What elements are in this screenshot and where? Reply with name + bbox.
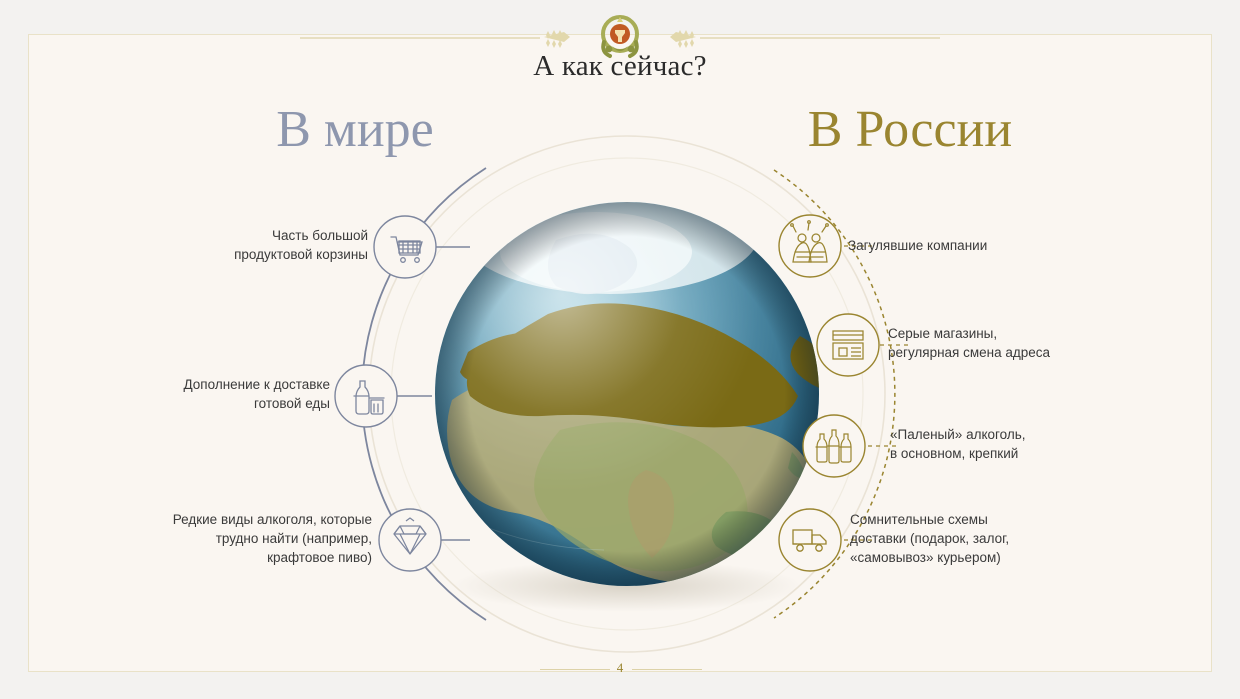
- page-number: 4: [600, 660, 640, 676]
- column-heading-world: В мире: [200, 100, 510, 159]
- crest-rule-left: [300, 37, 540, 39]
- bottle-and-food-icon[interactable]: [335, 365, 397, 427]
- wheat-ear-right-icon: [666, 26, 702, 48]
- diamond-icon[interactable]: [379, 509, 441, 571]
- header-crest-band: [0, 0, 1240, 60]
- delivery-truck-icon[interactable]: [779, 509, 841, 571]
- label-russia-3: «Паленый» алкоголь, в основном, крепкий: [890, 425, 1140, 463]
- label-russia-2: Серые магазины, регулярная смена адреса: [888, 324, 1148, 362]
- storefront-icon[interactable]: [817, 314, 879, 376]
- slide-footer: 4: [0, 655, 1240, 685]
- footer-rule-right: [632, 669, 702, 670]
- party-people-icon[interactable]: [779, 215, 841, 277]
- crest-rule-right: [700, 37, 940, 39]
- label-world-1: Часть большой продуктовой корзины: [168, 226, 368, 264]
- label-world-2: Дополнение к доставке готовой еды: [118, 375, 330, 413]
- slide: А как сейчас? В мире В России Часть боль…: [0, 0, 1240, 699]
- column-heading-russia: В России: [740, 100, 1080, 159]
- label-world-3: Редкие виды алкоголя, которые трудно най…: [110, 510, 372, 567]
- shopping-cart-icon[interactable]: [374, 216, 436, 278]
- label-russia-4: Сомнительные схемы доставки (подарок, за…: [850, 510, 1120, 567]
- state-emblem-icon: [596, 12, 644, 62]
- bottles-icon[interactable]: [803, 415, 865, 477]
- wheat-ear-left-icon: [538, 26, 574, 48]
- label-russia-1: Загулявшие компании: [848, 236, 1098, 255]
